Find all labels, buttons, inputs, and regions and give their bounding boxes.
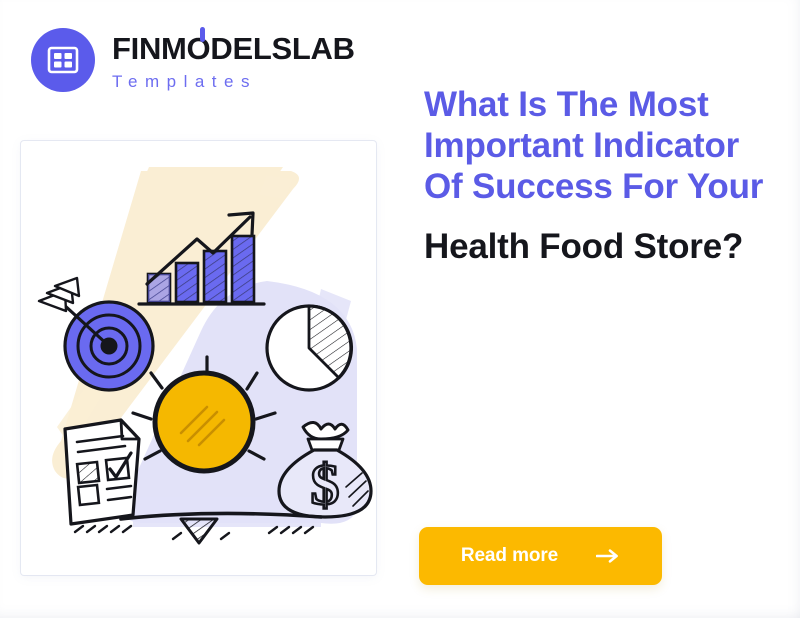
read-more-label: Read more [461, 545, 558, 567]
copy-block: What Is The Most Important Indicator Of … [424, 84, 776, 267]
brand-text: FINMODELSLAB Templates [112, 31, 355, 90]
checklist-document [65, 420, 139, 524]
grid-squares-icon [31, 28, 95, 92]
brand-name: FINMODELSLAB [112, 33, 355, 64]
arrow-right-icon [596, 549, 620, 563]
pie-chart [267, 306, 352, 390]
brand-logo[interactable]: FINMODELSLAB Templates [31, 28, 355, 92]
blog-promo-card: FINMODELSLAB Templates [0, 0, 800, 618]
svg-text:$: $ [311, 452, 340, 517]
page-subtitle: Health Food Store? [424, 226, 776, 267]
brand-tagline: Templates [112, 73, 355, 90]
power-tick-icon [200, 27, 205, 42]
read-more-button[interactable]: Read more [419, 527, 662, 585]
page-title: What Is The Most Important Indicator Of … [424, 84, 776, 207]
hero-illustration: $ [21, 141, 376, 575]
brand-name-label: FINMODELSLAB [112, 31, 355, 66]
